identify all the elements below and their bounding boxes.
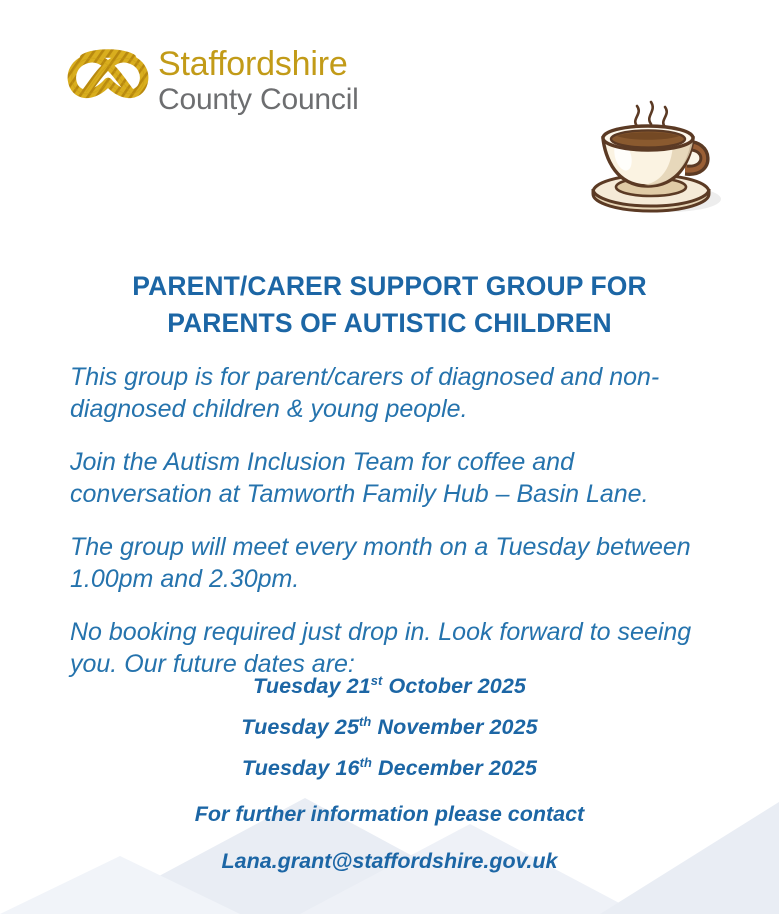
meeting-date-2-ordinal: th xyxy=(359,714,371,729)
meeting-date-1: Tuesday 21st October 2025 xyxy=(0,676,779,698)
logo-wordmark: Staffordshire County Council xyxy=(158,46,359,116)
meeting-date-3-prefix: Tuesday 16 xyxy=(242,756,360,780)
council-logo: Staffordshire County Council xyxy=(62,46,359,116)
logo-line-county-council: County Council xyxy=(158,83,359,117)
meeting-date-2-suffix: November 2025 xyxy=(371,715,537,739)
meeting-date-1-prefix: Tuesday 21 xyxy=(253,674,371,698)
body-paragraph-4: No booking required just drop in. Look f… xyxy=(70,617,702,680)
logo-line-staffordshire: Staffordshire xyxy=(158,46,359,83)
meeting-date-2: Tuesday 25th November 2025 xyxy=(0,717,779,739)
contact-prompt: For further information please contact xyxy=(0,804,779,826)
dates-and-contact: Tuesday 21st October 2025 Tuesday 25th N… xyxy=(0,676,779,873)
body-paragraph-3: The group will meet every month on a Tue… xyxy=(70,532,702,595)
meeting-date-1-suffix: October 2025 xyxy=(382,674,526,698)
poster-page: Staffordshire County Council xyxy=(0,0,779,914)
staffordshire-knot-icon xyxy=(62,46,154,116)
page-title-line-1: PARENT/CARER SUPPORT GROUP FOR xyxy=(0,268,779,306)
contact-email[interactable]: Lana.grant@staffordshire.gov.uk xyxy=(0,851,779,873)
page-title-line-2: PARENTS OF AUTISTIC CHILDREN xyxy=(0,305,779,343)
body-paragraph-2: Join the Autism Inclusion Team for coffe… xyxy=(70,447,702,510)
meeting-date-3-ordinal: th xyxy=(360,755,372,770)
body-paragraph-1: This group is for parent/carers of diagn… xyxy=(70,362,702,425)
page-title: PARENT/CARER SUPPORT GROUP FOR PARENTS O… xyxy=(0,268,779,343)
meeting-date-2-prefix: Tuesday 25 xyxy=(241,715,359,739)
body-copy: This group is for parent/carers of diagn… xyxy=(70,362,702,680)
meeting-date-3: Tuesday 16th December 2025 xyxy=(0,758,779,780)
coffee-cup-icon xyxy=(581,100,731,218)
meeting-date-1-ordinal: st xyxy=(371,673,383,688)
meeting-date-3-suffix: December 2025 xyxy=(372,756,537,780)
poster-header: Staffordshire County Council xyxy=(0,0,779,232)
